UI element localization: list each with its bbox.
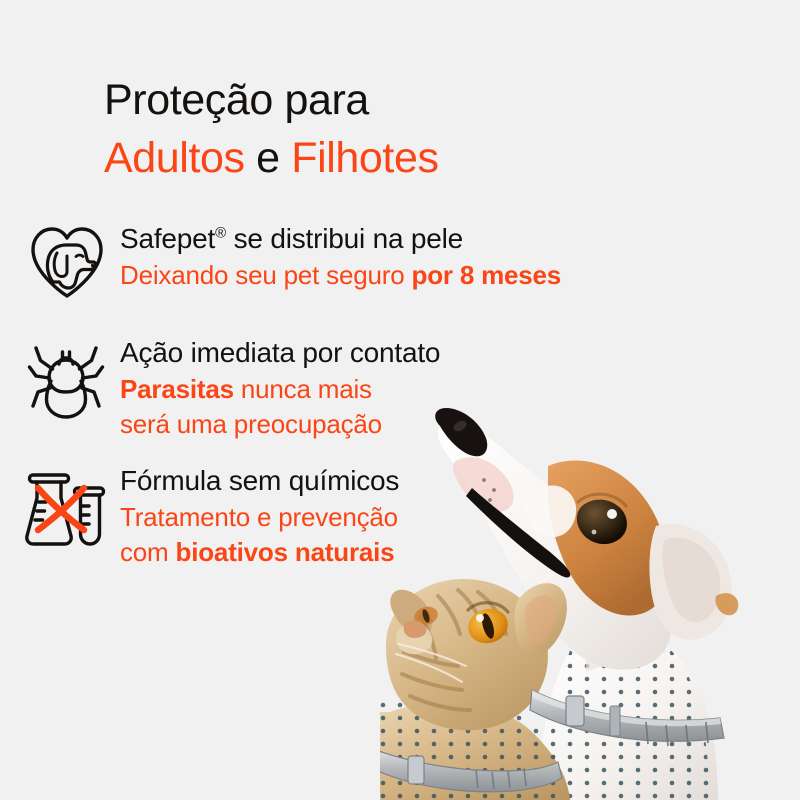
subtitle-regular: com <box>120 537 176 567</box>
heading-filhotes: Filhotes <box>291 134 438 182</box>
subtitle-regular: Deixando seu pet seguro <box>120 260 412 290</box>
tick-icon <box>24 336 110 424</box>
subtitle-bold: bioativos naturais <box>176 537 395 567</box>
feature-item-skin-distribution: Safepet® se distribui na pele Deixando s… <box>0 218 800 310</box>
cat-figure <box>380 579 580 800</box>
feature-subtitle-line1: Parasitas nunca mais <box>120 372 800 407</box>
heading-line-2: Adultos e Filhotes <box>104 130 744 186</box>
feature-title: Ação imediata por contato <box>120 334 800 372</box>
cat-collar <box>380 750 562 792</box>
brand-name: Safepet <box>120 223 215 254</box>
feature-item-immediate-action: Ação imediata por contato Parasitas nunc… <box>0 332 800 442</box>
page-title: Proteção para Adultos e Filhotes <box>104 72 744 186</box>
feature-title: Safepet® se distribui na pele <box>120 220 800 258</box>
feature-list: Safepet® se distribui na pele Deixando s… <box>0 218 800 570</box>
feature-subtitle-line2: será uma preocupação <box>120 407 800 442</box>
subtitle-bold: por 8 meses <box>412 260 562 290</box>
subtitle-bold: Parasitas <box>120 374 234 404</box>
heart-dog-icon <box>24 222 110 310</box>
promo-banner: Proteção para Adultos e Filhotes <box>0 0 800 800</box>
feature-title: Fórmula sem químicos <box>120 462 800 500</box>
feature-text: Fórmula sem químicos Tratamento e preven… <box>110 460 800 570</box>
heading-conjunction <box>245 134 257 182</box>
feature-subtitle-line1: Tratamento e prevenção <box>120 500 800 535</box>
feature-item-no-chemicals: Fórmula sem químicos Tratamento e preven… <box>0 460 800 570</box>
heading-e: e <box>256 134 280 182</box>
heading-line-1: Proteção para <box>104 72 744 128</box>
no-chemicals-icon <box>24 464 110 552</box>
heading-adultos: Adultos <box>104 134 245 182</box>
feature-subtitle: Deixando seu pet seguro por 8 meses <box>120 258 800 293</box>
feature-text: Ação imediata por contato Parasitas nunc… <box>110 332 800 442</box>
feature-subtitle-line2: com bioativos naturais <box>120 535 800 570</box>
dog-collar <box>530 690 724 746</box>
subtitle-regular: nunca mais <box>234 374 372 404</box>
registered-mark: ® <box>215 225 226 242</box>
feature-text: Safepet® se distribui na pele Deixando s… <box>110 218 800 293</box>
cat-eye <box>464 603 512 648</box>
feature-title-rest: se distribui na pele <box>226 223 463 254</box>
